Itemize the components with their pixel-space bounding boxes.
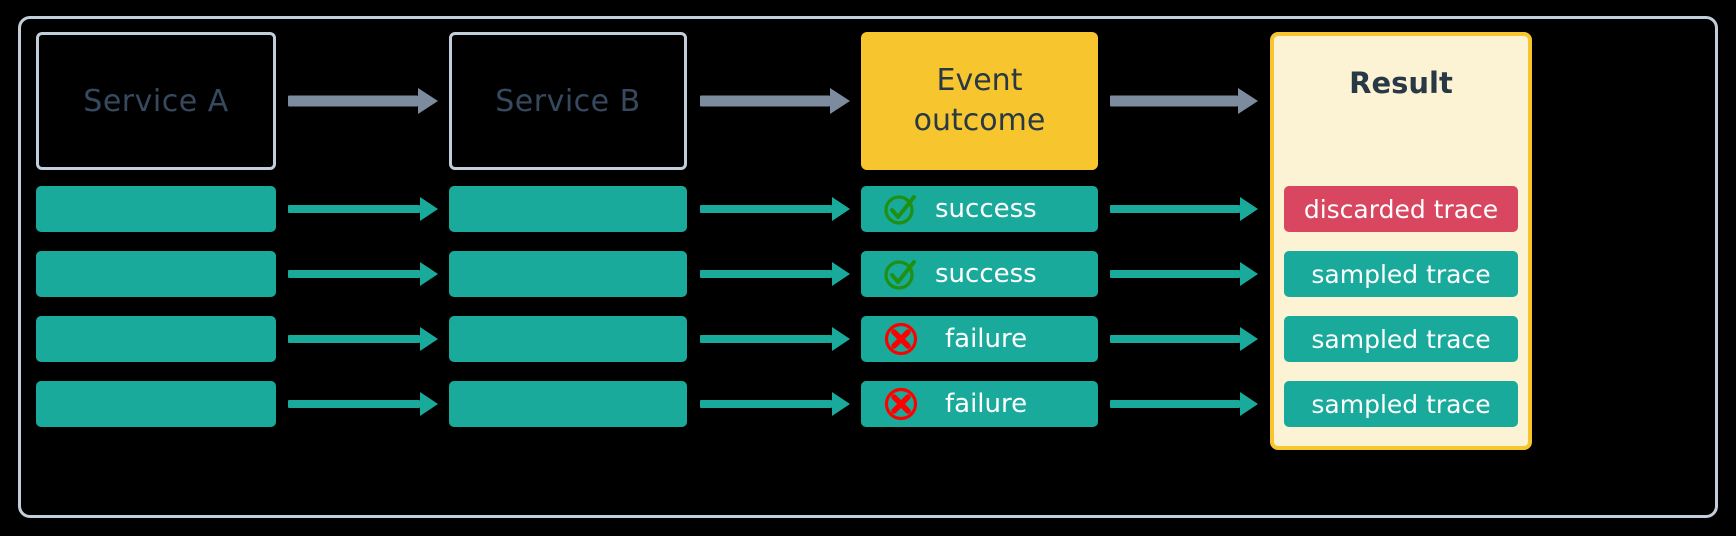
result-bar-row-3: sampled trace — [1284, 316, 1518, 362]
arrow-head — [1240, 197, 1258, 221]
arrow-shaft — [1110, 205, 1240, 213]
arrow-shaft — [288, 96, 418, 107]
result-bar-row-4: sampled trace — [1284, 381, 1518, 427]
arrow-shaft — [288, 270, 420, 278]
arrow-head — [832, 392, 850, 416]
header-service-b-label: Service B — [495, 84, 641, 119]
arrow-shaft — [700, 335, 832, 343]
arrow-shaft — [288, 400, 420, 408]
arrow-shaft — [700, 205, 832, 213]
result-bar-row-3-label: sampled trace — [1311, 325, 1490, 354]
service-b-bar-row-3 — [449, 316, 687, 362]
arrow-shaft — [288, 205, 420, 213]
arrow-head — [1240, 262, 1258, 286]
outcome-bar-row-1: success — [861, 186, 1098, 232]
check-circle-icon — [883, 256, 919, 292]
arrow-head — [420, 197, 438, 221]
arrow-head — [1240, 392, 1258, 416]
service-b-bar-row-1 — [449, 186, 687, 232]
arrow-head — [832, 262, 850, 286]
check-circle-icon — [883, 191, 919, 227]
arrow-shaft — [288, 335, 420, 343]
arrow-head — [420, 327, 438, 351]
outcome-bar-row-3: failure — [861, 316, 1098, 362]
arrow-shaft — [1110, 270, 1240, 278]
header-event-outcome: Event outcome — [861, 32, 1098, 170]
arrow-shaft — [700, 96, 830, 107]
arrow-head — [832, 327, 850, 351]
arrow-shaft — [1110, 400, 1240, 408]
outcome-bar-row-3-label: failure — [935, 324, 1027, 354]
result-bar-row-2-label: sampled trace — [1311, 260, 1490, 289]
x-circle-icon — [883, 386, 919, 422]
outcome-bar-row-4: failure — [861, 381, 1098, 427]
header-service-a-label: Service A — [83, 84, 228, 119]
service-a-bar-row-1 — [36, 186, 276, 232]
result-bar-row-1: discarded trace — [1284, 186, 1518, 232]
x-circle-icon — [883, 321, 919, 357]
arrow-head — [832, 197, 850, 221]
service-b-bar-row-4 — [449, 381, 687, 427]
arrow-shaft — [1110, 96, 1238, 107]
header-event-outcome-line2: outcome — [914, 103, 1046, 138]
header-result-label: Result — [1274, 66, 1528, 100]
result-bar-row-2: sampled trace — [1284, 251, 1518, 297]
header-service-a: Service A — [36, 32, 276, 170]
service-a-bar-row-2 — [36, 251, 276, 297]
outcome-bar-row-4-label: failure — [935, 389, 1027, 419]
diagram-canvas: Service A Service B Event outcome Result — [0, 0, 1736, 536]
header-service-b: Service B — [449, 32, 687, 170]
outcome-bar-row-2-label: success — [935, 259, 1037, 289]
service-a-bar-row-3 — [36, 316, 276, 362]
arrow-shaft — [1110, 335, 1240, 343]
outcome-bar-row-1-label: success — [935, 194, 1037, 224]
header-event-outcome-line1: Event — [937, 63, 1023, 98]
arrow-head — [420, 262, 438, 286]
arrow-shaft — [700, 270, 832, 278]
arrow-head — [1240, 327, 1258, 351]
service-b-bar-row-2 — [449, 251, 687, 297]
arrow-head — [1238, 88, 1258, 114]
arrow-head — [418, 88, 438, 114]
arrow-shaft — [700, 400, 832, 408]
service-a-bar-row-4 — [36, 381, 276, 427]
arrow-head — [420, 392, 438, 416]
result-bar-row-1-label: discarded trace — [1304, 195, 1498, 224]
outcome-bar-row-2: success — [861, 251, 1098, 297]
result-bar-row-4-label: sampled trace — [1311, 390, 1490, 419]
arrow-head — [830, 88, 850, 114]
header-event-outcome-label: Event outcome — [914, 61, 1046, 142]
